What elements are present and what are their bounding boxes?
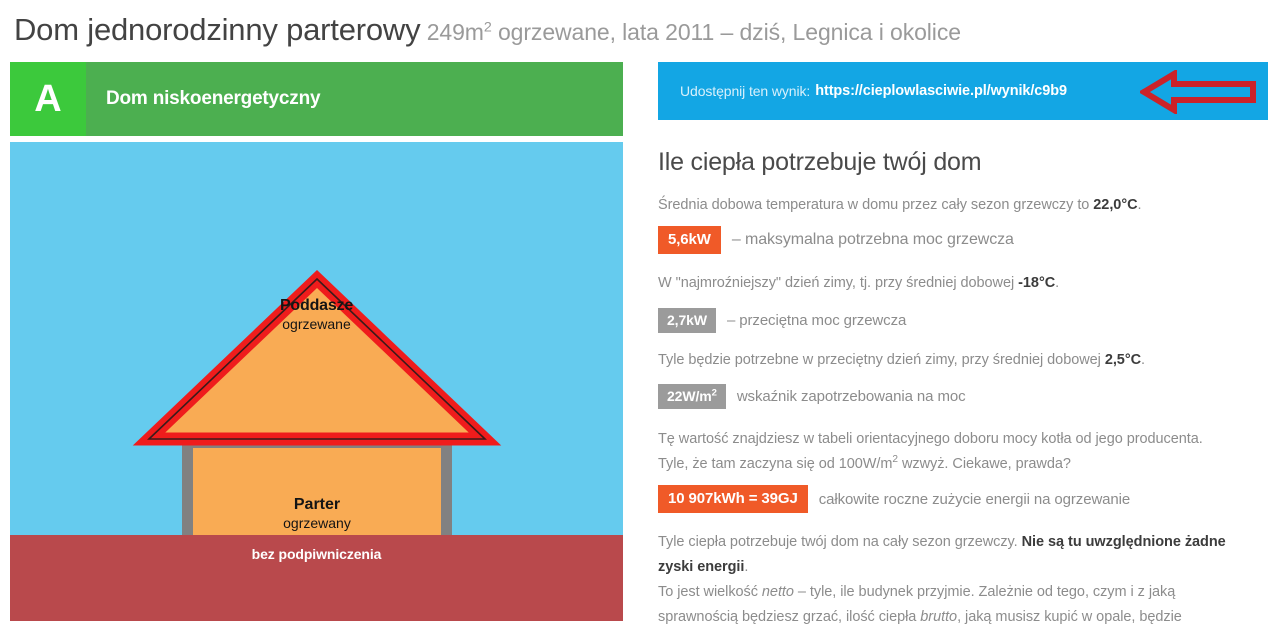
page-title-area-exponent: 2: [484, 19, 492, 35]
indoor-temp-text-a: Średnia dobowa temperatura w domu przez …: [658, 197, 1093, 213]
page-title-rest: ogrzewane, lata 2011 – dziś, Legnica i o…: [492, 19, 961, 45]
attic-title: Poddasze: [10, 297, 623, 315]
results-panel: Udostępnij ten wynik: https://cieplowlas…: [658, 62, 1268, 621]
netto-term: netto: [762, 584, 794, 600]
indoor-temp-text-b: .: [1138, 197, 1142, 213]
annual-energy-caption: całkowite roczne zużycie energii na ogrz…: [808, 491, 1130, 508]
index-note-b: wzwyż. Ciekawe, prawda?: [898, 456, 1071, 472]
house-summary-panel: A Dom niskoenergetyczny Parter ogrzewany…: [10, 62, 623, 621]
attic-subtitle: ogrzewane: [10, 316, 623, 332]
average-power-caption: – przeciętna moc grzewcza: [716, 312, 906, 329]
indoor-temperature-line: Średnia dobowa temperatura w domu przez …: [658, 193, 1268, 217]
page-title-main: Dom jednorodzinny parterowy: [14, 12, 420, 47]
ground-floor-labels: Parter ogrzewany: [193, 496, 441, 531]
power-index-note-line1: Tę wartość znajdziesz w tabeli orientacy…: [658, 427, 1268, 452]
coldest-day-text-a: W "najmroźniejszy" dzień zimy, tj. przy …: [658, 275, 1018, 291]
power-index-badge-exponent: 2: [712, 387, 717, 398]
power-index-note: Tę wartość znajdziesz w tabeli orientacy…: [658, 427, 1268, 477]
average-day-line: Tyle będzie potrzebne w przeciętny dzień…: [658, 348, 1268, 372]
power-index-caption: wskaźnik zapotrzebowania na moc: [726, 388, 966, 405]
indoor-temp-value: 22,0°C: [1093, 197, 1137, 213]
power-index-badge-value: 22W/m: [667, 388, 712, 404]
results-heading: Ile ciepła potrzebuje twój dom: [658, 148, 981, 177]
energy-note-a: Tyle ciepła potrzebuje twój dom na cały …: [658, 534, 1022, 550]
ground-floor-subtitle: ogrzewany: [193, 515, 441, 531]
energy-class-banner: A Dom niskoenergetyczny: [10, 62, 623, 136]
coldest-day-value: -18°C: [1018, 275, 1055, 291]
max-power-caption: – maksymalna potrzebna moc grzewcza: [721, 231, 1014, 249]
annual-energy-badge: 10 907kWh = 39GJ: [658, 485, 808, 513]
netto-text-a: To jest wielkość: [658, 584, 762, 600]
energy-class-label: Dom niskoenergetyczny: [86, 88, 320, 110]
house-diagram: Parter ogrzewany Poddasze ogrzewane bez …: [10, 142, 623, 621]
energy-class-letter-badge: A: [10, 62, 86, 136]
average-day-text-a: Tyle będzie potrzebne w przeciętny dzień…: [658, 352, 1105, 368]
basement-label: bez podpiwniczenia: [252, 546, 382, 562]
energy-note-b: .: [744, 559, 748, 575]
page-title-suffix: 249m2 ogrzewane, lata 2011 – dziś, Legni…: [420, 19, 961, 45]
average-day-value: 2,5°C: [1105, 352, 1141, 368]
power-index-note-line2: Tyle, że tam zaczyna się od 100W/m2 wzwy…: [658, 452, 1268, 477]
share-result-bar[interactable]: Udostępnij ten wynik: https://cieplowlas…: [658, 62, 1268, 120]
attic-labels: Poddasze ogrzewane: [10, 297, 623, 332]
max-power-row: 5,6kW– maksymalna potrzebna moc grzewcza: [658, 226, 1268, 254]
annual-energy-row: 10 907kWh = 39GJcałkowite roczne zużycie…: [658, 485, 1268, 513]
page-title-area: 249m: [427, 19, 484, 45]
netto-brutto-note: To jest wielkość netto – tyle, ile budyn…: [658, 580, 1252, 630]
ground-floor-title: Parter: [193, 496, 441, 514]
average-power-badge: 2,7kW: [658, 308, 716, 333]
left-arrow-annotation-icon: [1140, 70, 1258, 114]
netto-text-c: , jaką musisz kupić w opale, będzie: [957, 609, 1182, 625]
average-power-row: 2,7kW– przeciętna moc grzewcza: [658, 308, 1268, 333]
share-result-link[interactable]: https://cieplowlasciwie.pl/wynik/c9b9: [810, 83, 1067, 99]
brutto-term: brutto: [920, 609, 957, 625]
ground-strip: bez podpiwniczenia: [10, 535, 623, 621]
average-day-text-b: .: [1141, 352, 1145, 368]
share-prefix-label: Udostępnij ten wynik:: [658, 83, 810, 99]
max-power-badge: 5,6kW: [658, 226, 721, 254]
annual-energy-note: Tyle ciepła potrzebuje twój dom na cały …: [658, 530, 1260, 580]
coldest-day-text-b: .: [1055, 275, 1059, 291]
page-title: Dom jednorodzinny parterowy 249m2 ogrzew…: [14, 8, 1264, 52]
power-index-row: 22W/m2wskaźnik zapotrzebowania na moc: [658, 384, 1268, 409]
power-index-badge: 22W/m2: [658, 384, 726, 409]
coldest-day-line: W "najmroźniejszy" dzień zimy, tj. przy …: [658, 271, 1268, 295]
index-note-a: Tyle, że tam zaczyna się od 100W/m: [658, 456, 892, 472]
